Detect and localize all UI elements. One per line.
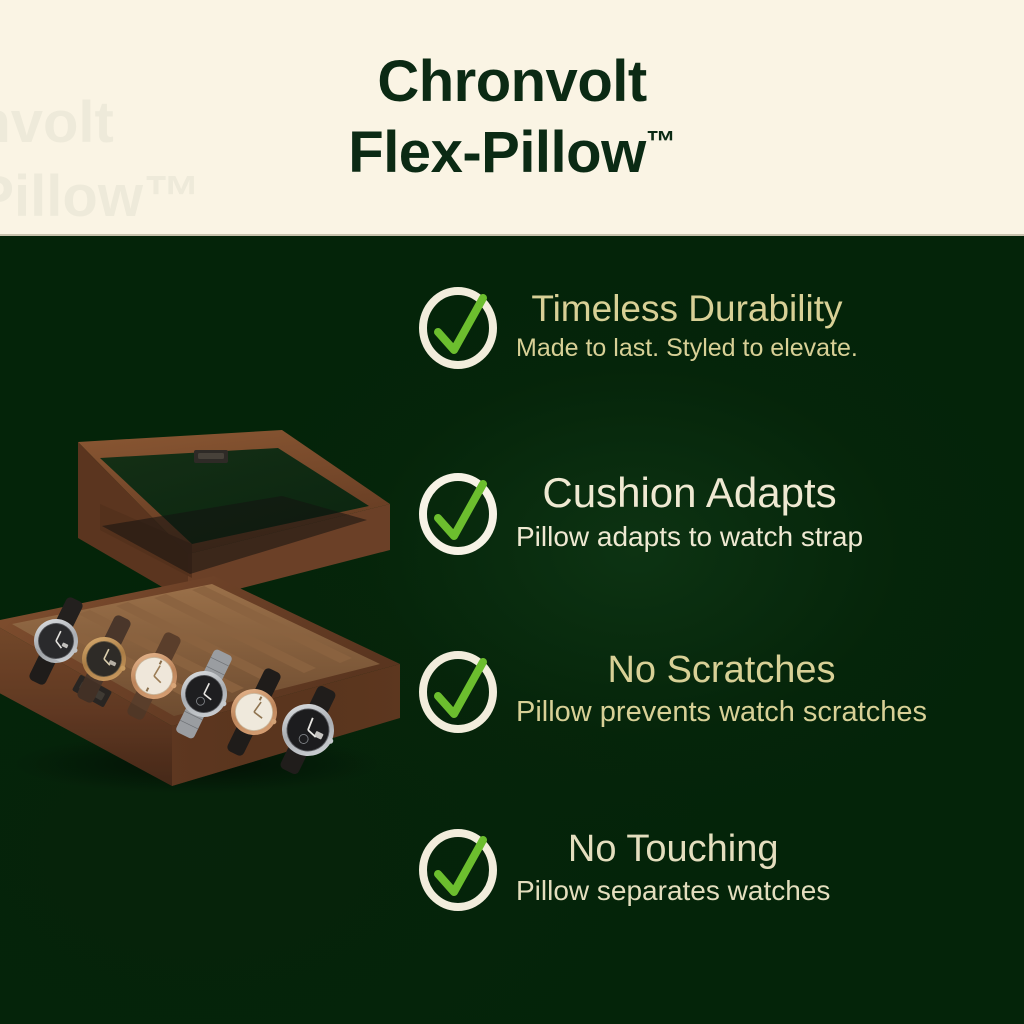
title-line-2-text: Flex-Pillow (348, 120, 645, 185)
feature-item: Cushion Adapts Pillow adapts to watch st… (414, 466, 863, 558)
feature-text: No Scratches Pillow prevents watch scrat… (516, 650, 927, 730)
feature-title: No Scratches (607, 650, 835, 690)
title-line-1: Chronvolt (377, 52, 646, 111)
header-band: Chronvolt Flex-Pillow™ Chronvolt Flex-Pi… (0, 0, 1024, 236)
title-line-2: Flex-Pillow™ (348, 123, 675, 182)
feature-item: No Touching Pillow separates watches (414, 822, 830, 914)
box-lid (78, 430, 390, 602)
feature-list: Timeless Durability Made to last. Styled… (414, 258, 1024, 998)
check-circle-icon (414, 280, 502, 372)
feature-text: No Touching Pillow separates watches (516, 829, 830, 907)
page-title: Chronvolt Flex-Pillow™ (0, 0, 1024, 234)
feature-subtitle: Pillow adapts to watch strap (516, 521, 863, 553)
product-image (0, 426, 412, 796)
check-circle-icon (414, 466, 502, 558)
feature-subtitle: Made to last. Styled to elevate. (516, 334, 858, 363)
feature-item: Timeless Durability Made to last. Styled… (414, 280, 858, 372)
feature-title: Timeless Durability (531, 289, 842, 328)
feature-subtitle: Pillow separates watches (516, 875, 830, 907)
body-panel: Timeless Durability Made to last. Styled… (0, 236, 1024, 1024)
check-circle-icon (414, 644, 502, 736)
check-circle-icon (414, 822, 502, 914)
feature-title: No Touching (568, 829, 779, 869)
feature-item: No Scratches Pillow prevents watch scrat… (414, 644, 927, 736)
feature-subtitle: Pillow prevents watch scratches (516, 696, 927, 729)
feature-text: Timeless Durability Made to last. Styled… (516, 289, 858, 363)
feature-text: Cushion Adapts Pillow adapts to watch st… (516, 471, 863, 554)
feature-title: Cushion Adapts (542, 471, 836, 516)
infographic-page: Chronvolt Flex-Pillow™ Chronvolt Flex-Pi… (0, 0, 1024, 1024)
trademark-symbol: ™ (646, 126, 676, 159)
